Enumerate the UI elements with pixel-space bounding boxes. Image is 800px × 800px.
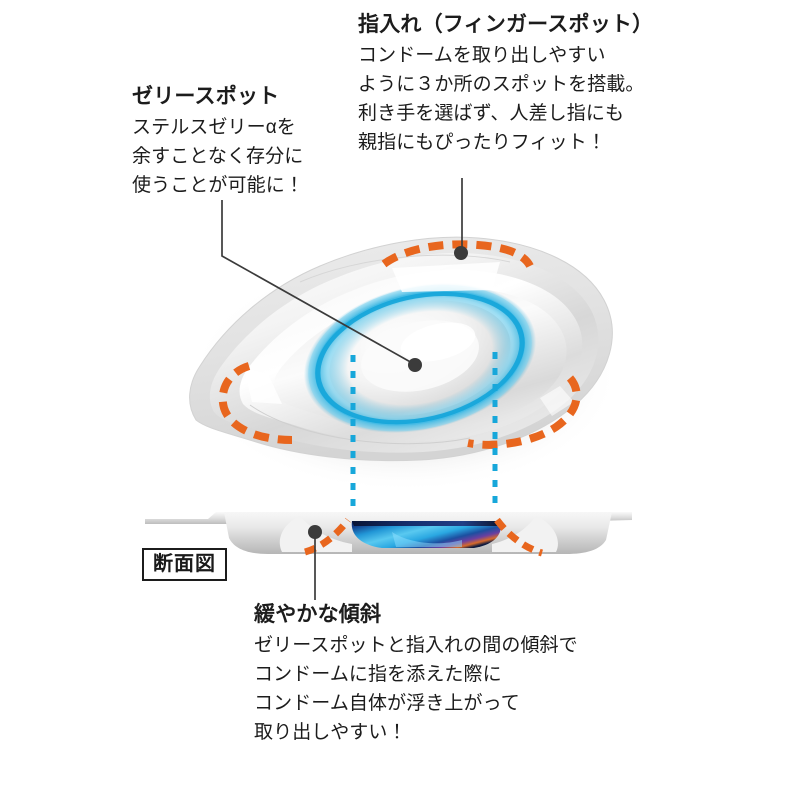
callout-gentle-slope: 緩やかな傾斜 ゼリースポットと指入れの間の傾斜で コンドームに指を添えた際に コ… <box>254 602 578 747</box>
callout-jelly-title: ゼリースポット <box>132 84 304 111</box>
callout-finger-spot: 指入れ（フィンガースポット） コンドームを取り出しやすい ように３か所のスポット… <box>358 12 653 157</box>
section-basin-surface <box>352 521 500 526</box>
callout-slope-line-1: ゼリースポットと指入れの間の傾斜で <box>254 632 578 661</box>
callout-jelly-body: ステルスゼリーαを 余すことなく存分に 使うことが可能に！ <box>132 114 304 201</box>
callout-slope-title: 緩やかな傾斜 <box>254 602 578 629</box>
callout-finger-line-1: コンドームを取り出しやすい <box>358 42 653 71</box>
leader-dot-finger <box>454 246 468 260</box>
callout-slope-line-2: コンドームに指を添えた際に <box>254 661 578 690</box>
section-left-flange <box>145 512 232 524</box>
callout-slope-line-3: コンドーム自体が浮き上がって <box>254 690 578 719</box>
callout-finger-body: コンドームを取り出しやすい ように３か所のスポットを搭載。 利き手を選ばず、人差… <box>358 42 653 158</box>
product-shell-top-view <box>190 237 620 493</box>
callout-jelly-line-1: ステルスゼリーαを <box>132 114 304 143</box>
callout-finger-line-3: 利き手を選ばず、人差し指にも <box>358 100 653 129</box>
leader-dot-slope <box>308 525 322 539</box>
callout-jelly-line-3: 使うことが可能に！ <box>132 172 304 201</box>
callout-jelly-line-2: 余すことなく存分に <box>132 143 304 172</box>
callout-slope-body: ゼリースポットと指入れの間の傾斜で コンドームに指を添えた際に コンドーム自体が… <box>254 632 578 748</box>
callout-finger-line-4: 親指にもぴったりフィット！ <box>358 129 653 158</box>
callout-finger-title: 指入れ（フィンガースポット） <box>358 12 653 39</box>
callout-finger-line-2: ように３か所のスポットを搭載。 <box>358 71 653 100</box>
cross-section-label: 断面図 <box>142 548 227 581</box>
callout-jelly-spot: ゼリースポット ステルスゼリーαを 余すことなく存分に 使うことが可能に！ <box>132 84 304 201</box>
callout-slope-line-4: 取り出しやすい！ <box>254 719 578 748</box>
leader-dot-jelly <box>408 358 422 372</box>
infographic-canvas: ゼリースポット ステルスゼリーαを 余すことなく存分に 使うことが可能に！ 指入… <box>0 0 800 800</box>
